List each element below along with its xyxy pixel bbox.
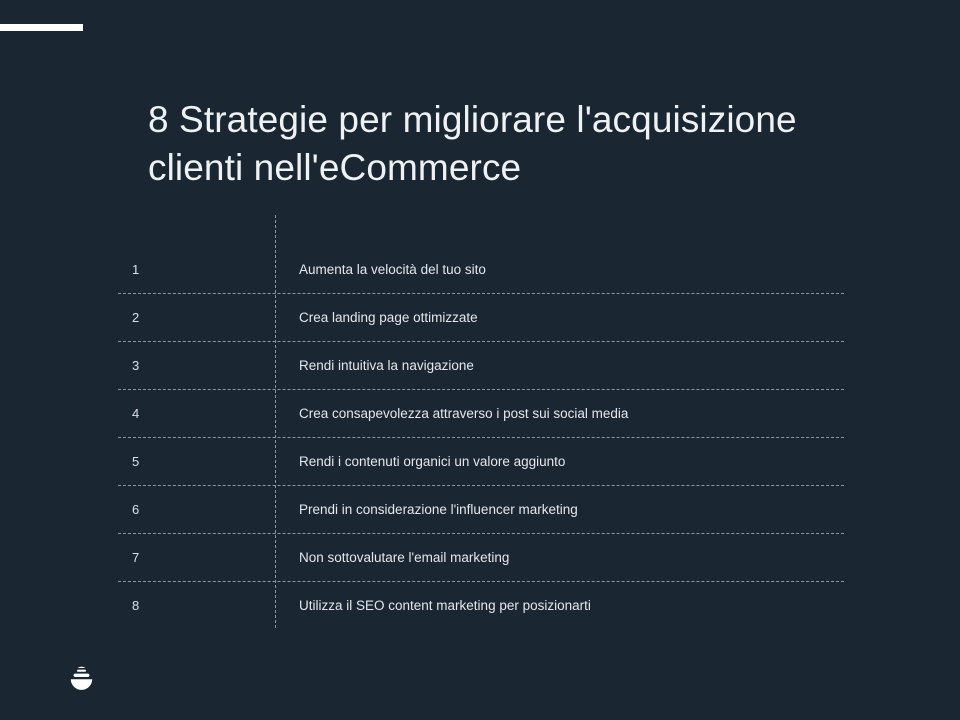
list-item-number: 3 xyxy=(118,358,275,373)
list-item: 1 Aumenta la velocità del tuo sito xyxy=(118,246,844,294)
list-item-label: Crea consapevolezza attraverso i post su… xyxy=(275,406,844,421)
list-item-label: Crea landing page ottimizzate xyxy=(275,310,844,325)
list-item: 6 Prendi in considerazione l'influencer … xyxy=(118,486,844,534)
list-item: 8 Utilizza il SEO content marketing per … xyxy=(118,582,844,629)
list-item: 7 Non sottovalutare l'email marketing xyxy=(118,534,844,582)
list-item: 4 Crea consapevolezza attraverso i post … xyxy=(118,390,844,438)
list-item: 2 Crea landing page ottimizzate xyxy=(118,294,844,342)
page-title: 8 Strategie per migliorare l'acquisizion… xyxy=(148,96,828,192)
accent-bar xyxy=(0,24,83,31)
list-item-number: 1 xyxy=(118,262,275,277)
list-item-number: 8 xyxy=(118,598,275,613)
list-item-label: Rendi intuitiva la navigazione xyxy=(275,358,844,373)
list-item-label: Non sottovalutare l'email marketing xyxy=(275,550,844,565)
list-rows: 1 Aumenta la velocità del tuo sito 2 Cre… xyxy=(118,246,844,629)
list-item-label: Aumenta la velocità del tuo sito xyxy=(275,262,844,277)
list-item-number: 7 xyxy=(118,550,275,565)
list-item-label: Utilizza il SEO content marketing per po… xyxy=(275,598,844,613)
list-item-label: Prendi in considerazione l'influencer ma… xyxy=(275,502,844,517)
slide: 8 Strategie per migliorare l'acquisizion… xyxy=(0,0,960,720)
strategy-list: 1 Aumenta la velocità del tuo sito 2 Cre… xyxy=(118,215,844,630)
list-item-label: Rendi i contenuti organici un valore agg… xyxy=(275,454,844,469)
list-item-number: 4 xyxy=(118,406,275,421)
stacked-bowl-logo-icon xyxy=(69,665,94,692)
list-item-number: 6 xyxy=(118,502,275,517)
list-item: 3 Rendi intuitiva la navigazione xyxy=(118,342,844,390)
list-item-number: 2 xyxy=(118,310,275,325)
list-item: 5 Rendi i contenuti organici un valore a… xyxy=(118,438,844,486)
list-item-number: 5 xyxy=(118,454,275,469)
